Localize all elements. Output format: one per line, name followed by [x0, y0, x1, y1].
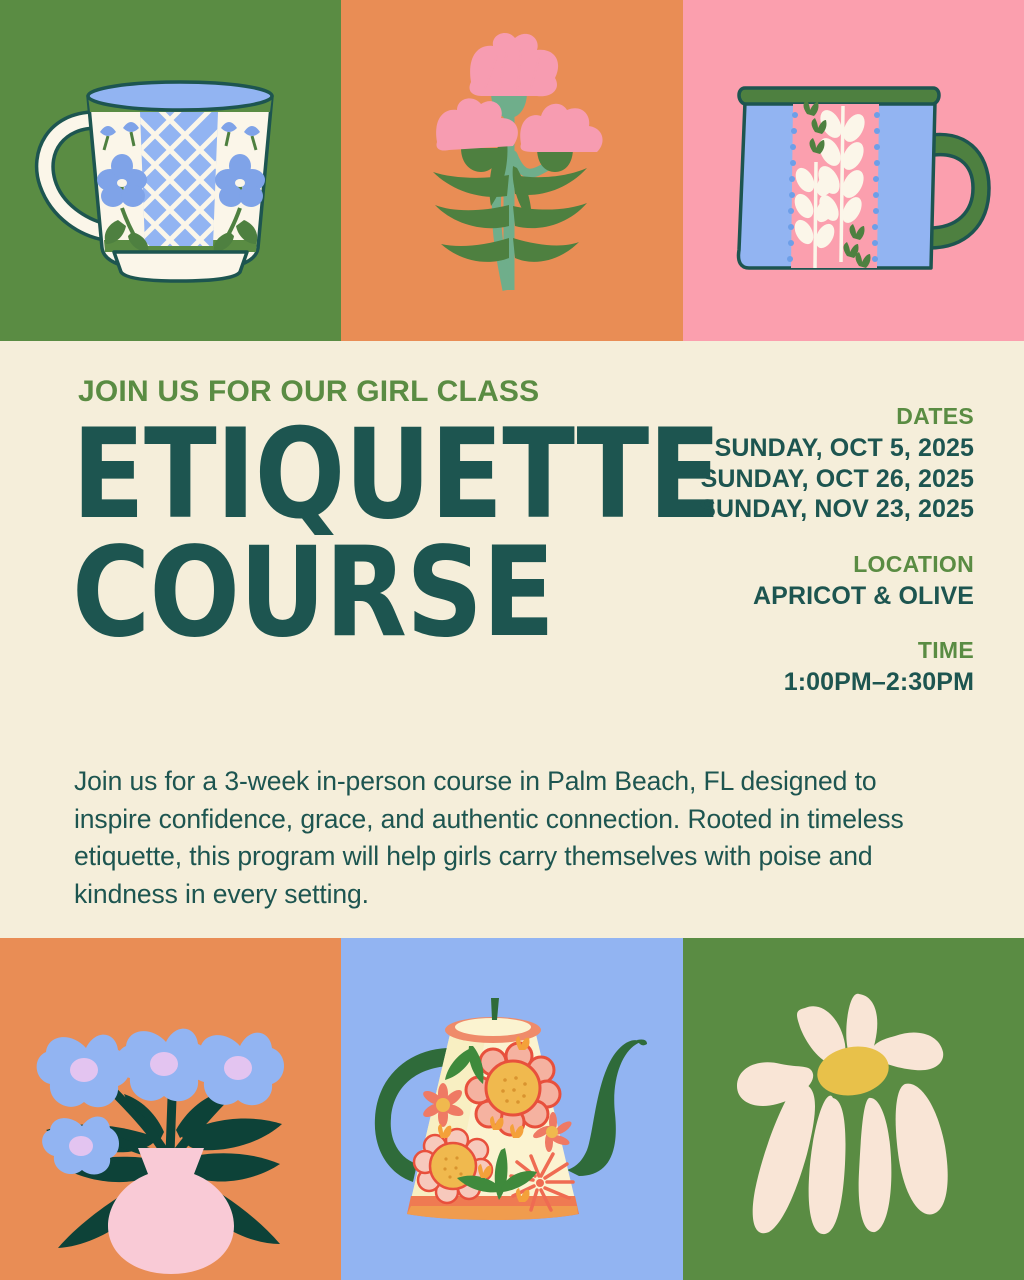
poster: JOIN US FOR OUR GIRL CLASS ETIQUETTE COU…	[0, 0, 1024, 1280]
description-paragraph: Join us for a 3-week in-person course in…	[74, 763, 954, 914]
location-label: LOCATION	[654, 551, 974, 578]
teacup-illustration	[0, 0, 341, 341]
location-value: APRICOT & OLIVE	[654, 581, 974, 612]
top-image-band	[0, 0, 1024, 341]
date-value-2: SUNDAY, OCT 26, 2025	[654, 464, 974, 495]
dates-label: DATES	[654, 403, 974, 430]
event-details: DATES SUNDAY, OCT 5, 2025 SUNDAY, OCT 26…	[654, 403, 974, 698]
title-line-1: ETIQUETTE	[72, 417, 588, 535]
floral-teapot-panel	[341, 938, 683, 1280]
flower-vase-panel	[0, 938, 341, 1280]
time-label: TIME	[654, 637, 974, 664]
teacup-panel	[0, 0, 341, 341]
date-value-3: SUNDAY, NOV 23, 2025	[654, 494, 974, 525]
bottom-image-band	[0, 938, 1024, 1280]
daisy-panel	[683, 938, 1024, 1280]
carnations-panel	[341, 0, 683, 341]
content-area: JOIN US FOR OUR GIRL CLASS ETIQUETTE COU…	[0, 341, 1024, 938]
dates-group: DATES SUNDAY, OCT 5, 2025 SUNDAY, OCT 26…	[654, 403, 974, 525]
daisy-petals	[737, 994, 948, 1234]
location-group: LOCATION APRICOT & OLIVE	[654, 551, 974, 612]
blue-mug-panel	[683, 0, 1024, 341]
blue-mug-illustration	[683, 0, 1024, 341]
date-value-1: SUNDAY, OCT 5, 2025	[654, 433, 974, 464]
floral-teapot-illustration	[341, 938, 683, 1280]
flower-vase-illustration	[0, 938, 341, 1280]
page-title: ETIQUETTE COURSE	[72, 417, 588, 653]
daisy-illustration	[683, 938, 1024, 1280]
pink-carnations-illustration	[341, 0, 683, 341]
time-group: TIME 1:00PM–2:30PM	[654, 637, 974, 698]
time-value: 1:00PM–2:30PM	[654, 667, 974, 698]
title-line-2: COURSE	[72, 535, 588, 653]
